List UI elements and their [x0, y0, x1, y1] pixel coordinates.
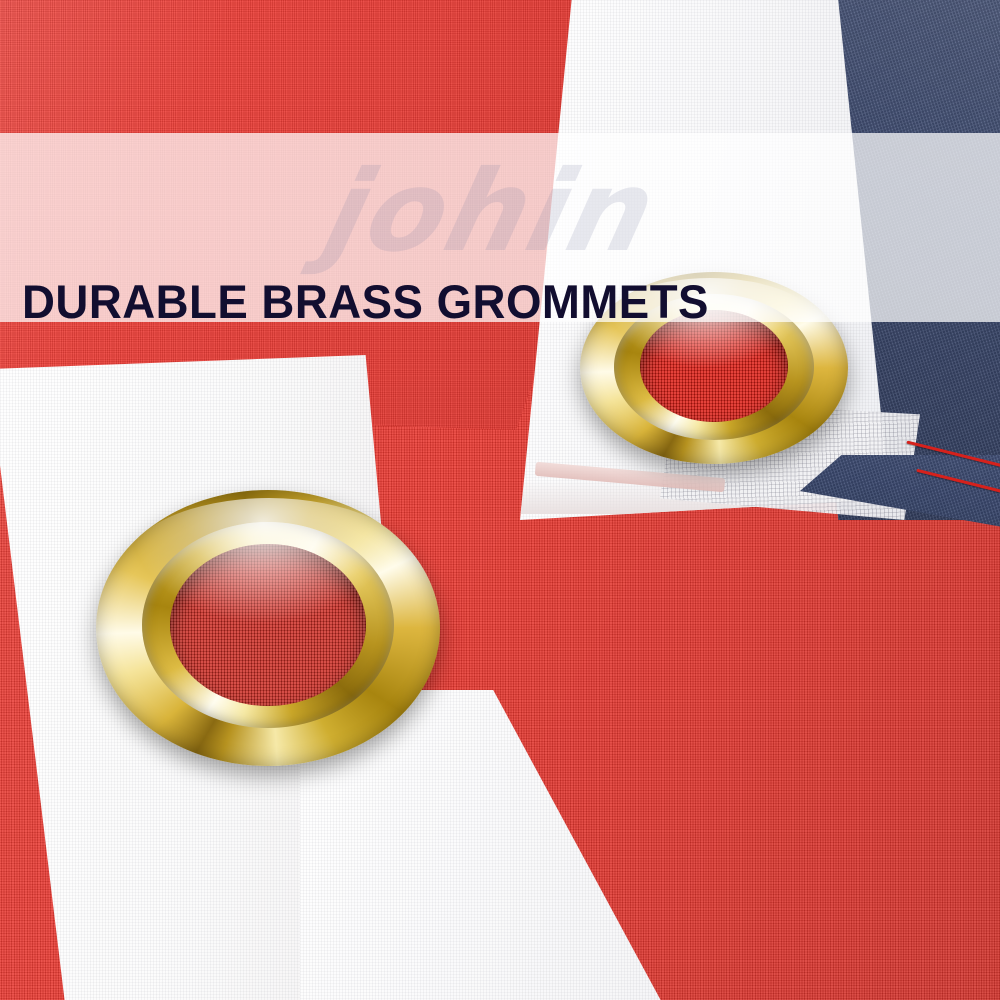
grommet-secondary-bore-texture — [640, 310, 788, 422]
grommet-main — [96, 490, 440, 766]
overlay-banner: johin DURABLE BRASS GROMMETS Grommets ar… — [0, 133, 1000, 322]
grommet-main-inner-ring — [142, 522, 394, 728]
banner-title: DURABLE BRASS GROMMETS — [22, 274, 709, 322]
watermark-logo: johin — [314, 147, 670, 277]
grommet-main-bore — [170, 544, 366, 706]
grommet-main-bore-texture — [170, 544, 366, 706]
product-image: johin DURABLE BRASS GROMMETS Grommets ar… — [0, 0, 1000, 1000]
grommet-secondary-bore — [640, 310, 788, 422]
